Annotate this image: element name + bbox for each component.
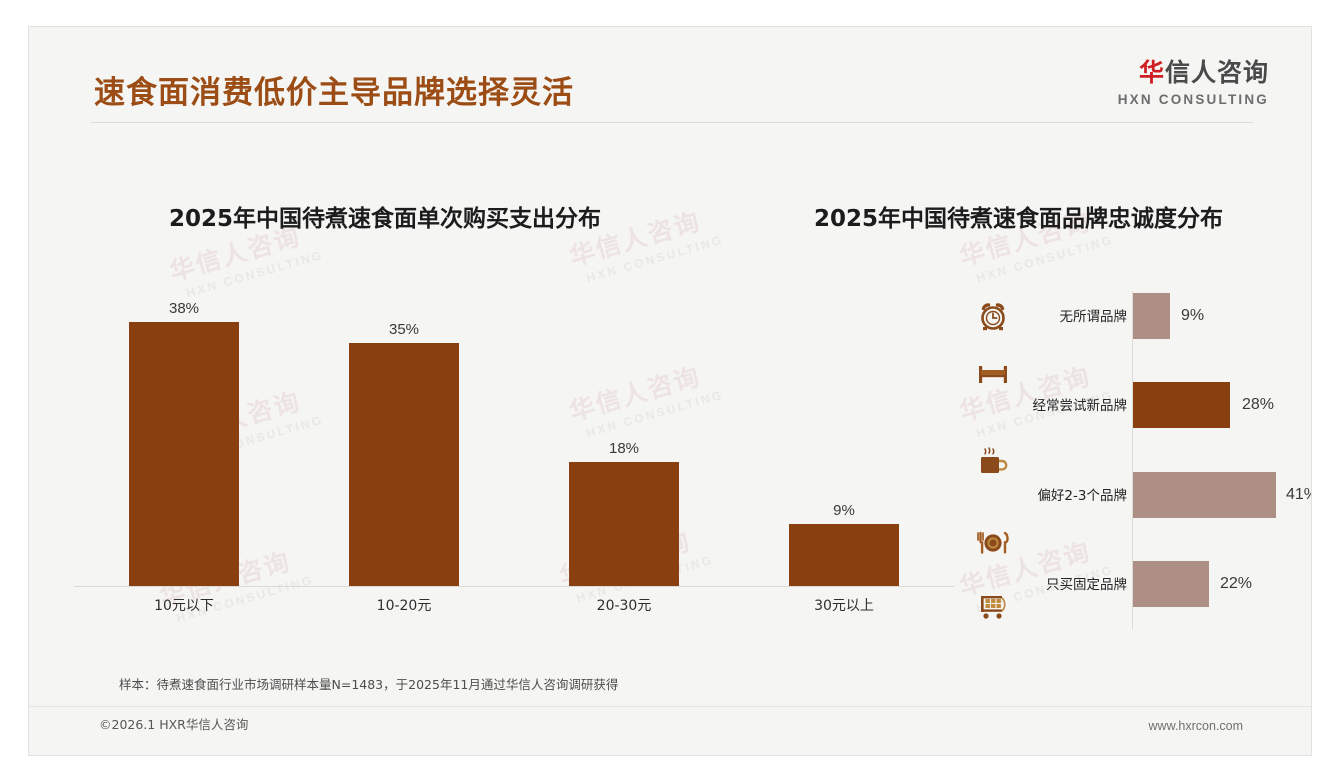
footer-divider xyxy=(29,706,1311,707)
copyright-text: ©2026.1 HXR华信人咨询 xyxy=(99,714,248,733)
loyalty-label: 偏好2-3个品牌 xyxy=(1017,484,1127,504)
loyalty-row: 偏好2-3个品牌 41% xyxy=(959,462,1289,524)
website-url[interactable]: www.hxrcon.com xyxy=(1149,719,1243,733)
brand-logo: 华信人咨询 HXN CONSULTING xyxy=(1118,60,1269,107)
loyalty-label: 无所谓品牌 xyxy=(1017,305,1127,325)
bar-fixed-brand-only[interactable] xyxy=(1133,561,1209,607)
bar-column: 18% xyxy=(524,277,724,587)
expenditure-bar-chart: 38% 35% 18% 9% 10元以下 10-20元 20-30元 30元以上 xyxy=(74,277,954,622)
x-tick-label: 30元以上 xyxy=(744,595,944,615)
vertical-bars-plot: 38% 35% 18% 9% xyxy=(74,277,954,587)
loyalty-row: 经常尝试新品牌 28% xyxy=(959,372,1289,434)
bar-10-20[interactable] xyxy=(349,343,459,587)
source-note: 样本：待煮速食面行业市场调研样本量N=1483，于2025年11月通过华信人咨询… xyxy=(119,674,618,693)
coffee-mug-icon xyxy=(973,442,1013,482)
loyalty-row: 无所谓品牌 9% xyxy=(959,285,1289,347)
bar-20-30[interactable] xyxy=(569,462,679,587)
slide-header: 速食面消费低价主导品牌选择灵活 华信人咨询 HXN CONSULTING xyxy=(29,27,1311,123)
logo-chars-rest: 信人咨询 xyxy=(1165,58,1269,87)
logo-english: HXN CONSULTING xyxy=(1118,93,1269,107)
alarm-clock-icon xyxy=(973,296,1013,336)
slide-canvas: 华信人咨询 HXN CONSULTING 华信人咨询 HXN CONSULTIN… xyxy=(28,26,1312,756)
loyalty-label: 经常尝试新品牌 xyxy=(1017,394,1127,414)
bar-value-label: 9% xyxy=(833,502,855,519)
logo-chinese: 华信人咨询 xyxy=(1118,60,1269,85)
watermark-en: HXN CONSULTING xyxy=(975,233,1115,286)
bar-column: 9% xyxy=(744,277,944,587)
bar-column: 38% xyxy=(84,277,284,587)
loyalty-label: 只买固定品牌 xyxy=(1017,573,1127,593)
bar-prefer-2-3-brands[interactable] xyxy=(1133,472,1276,518)
brand-loyalty-bar-chart: 无所谓品牌 9% 经常尝试新品牌 28% xyxy=(959,285,1289,635)
bar-30-above[interactable] xyxy=(789,524,899,587)
bar-value-label: 41% xyxy=(1286,486,1312,504)
bar-value-label: 28% xyxy=(1242,396,1274,414)
bar-try-new-brands[interactable] xyxy=(1133,382,1230,428)
bar-value-label: 38% xyxy=(169,300,199,317)
bar-10-under[interactable] xyxy=(129,322,239,587)
x-tick-label: 20-30元 xyxy=(524,595,724,615)
horizontal-bars-plot: 无所谓品牌 9% 经常尝试新品牌 28% xyxy=(959,285,1289,635)
bar-value-label: 22% xyxy=(1220,575,1252,593)
plate-utensils-icon xyxy=(973,523,1013,563)
shopping-cart-icon xyxy=(973,585,1013,625)
bar-value-label: 9% xyxy=(1181,307,1204,325)
x-axis-labels: 10元以下 10-20元 20-30元 30元以上 xyxy=(74,587,954,622)
bed-icon xyxy=(973,354,1013,394)
title-divider xyxy=(91,122,1253,123)
bar-value-label: 35% xyxy=(389,321,419,338)
x-tick-label: 10元以下 xyxy=(84,595,284,615)
right-chart-title: 2025年中国待煮速食面品牌忠诚度分布 xyxy=(814,199,1223,233)
left-chart-title: 2025年中国待煮速食面单次购买支出分布 xyxy=(169,199,601,233)
x-tick-label: 10-20元 xyxy=(304,595,504,615)
logo-char-hua: 华 xyxy=(1139,58,1165,87)
bar-column: 35% xyxy=(304,277,504,587)
bar-no-preference[interactable] xyxy=(1133,293,1170,339)
bar-value-label: 18% xyxy=(609,440,639,457)
page-title: 速食面消费低价主导品牌选择灵活 xyxy=(94,67,574,112)
